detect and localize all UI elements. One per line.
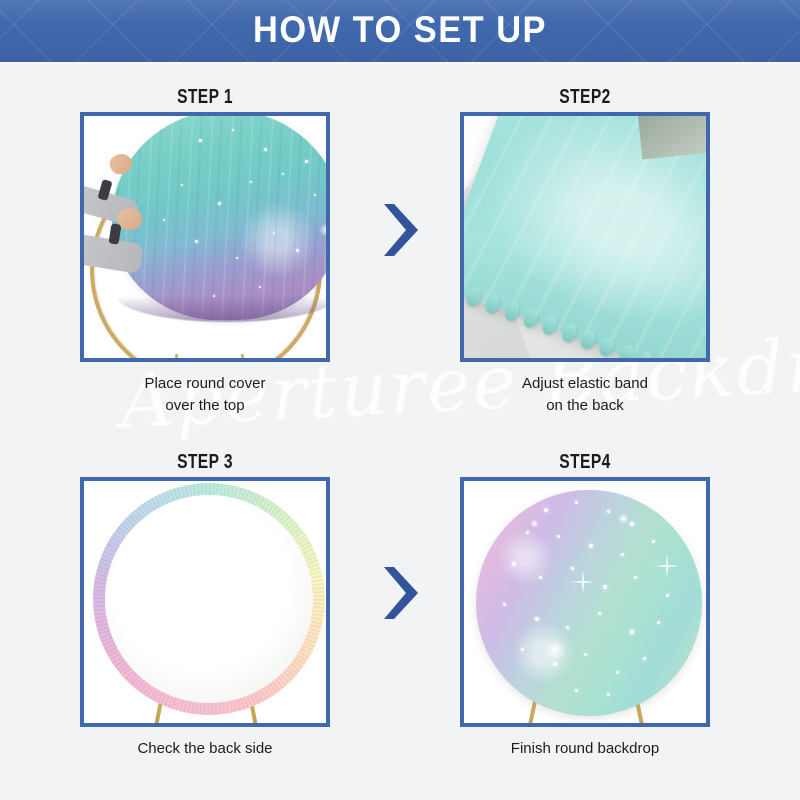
step-card-3: STEP 3 Check the back side [80, 449, 330, 760]
banner-underline [0, 62, 800, 65]
step-3-caption-line-1: Check the back side [80, 738, 330, 760]
step-1-photo [84, 116, 326, 358]
step-4-caption: Finish round backdrop [460, 738, 710, 760]
step-1-caption-line-1: Place round cover [80, 373, 330, 395]
page-title: HOW TO SET UP [28, 9, 772, 51]
step-1-label: STEP 1 [108, 84, 303, 110]
step-4-label: STEP4 [488, 449, 683, 475]
step-4-photo [464, 481, 706, 723]
step-2-caption: Adjust elastic band on the back [460, 373, 710, 417]
chevron-right-icon [378, 563, 424, 623]
step-1-caption-line-2: over the top [80, 395, 330, 417]
backdrop-back-side [99, 489, 319, 709]
step-3-photo [84, 481, 326, 723]
step-2-photo [464, 116, 706, 358]
chevron-right-icon [378, 200, 424, 260]
step-4-photo-frame [460, 477, 710, 727]
finished-backdrop [476, 490, 702, 716]
step-card-1: STEP 1 [80, 84, 330, 417]
star-print [476, 490, 702, 716]
sparkle-icon [582, 569, 584, 595]
step-2-label: STEP2 [488, 84, 683, 110]
step-2-photo-frame [460, 112, 710, 362]
step-card-2: STEP2 Adjust elastic band on the back [460, 84, 710, 417]
step-4-caption-line-1: Finish round backdrop [460, 738, 710, 760]
step-1-caption: Place round cover over the top [80, 373, 330, 417]
step-3-caption: Check the back side [80, 738, 330, 760]
how-to-set-up-infographic: HOW TO SET UP Aperturee Backdrop STEP 1 [0, 0, 800, 800]
step-card-4: STEP4 [460, 449, 710, 760]
gradient-cover-cloth [112, 116, 326, 320]
step-2-caption-line-1: Adjust elastic band [460, 373, 710, 395]
background-corner [638, 116, 706, 160]
sparkle-icon [666, 553, 668, 579]
step-1-photo-frame [80, 112, 330, 362]
star-print [112, 116, 326, 320]
step-3-label: STEP 3 [108, 449, 303, 475]
step-3-photo-frame [80, 477, 330, 727]
step-2-caption-line-2: on the back [460, 395, 710, 417]
